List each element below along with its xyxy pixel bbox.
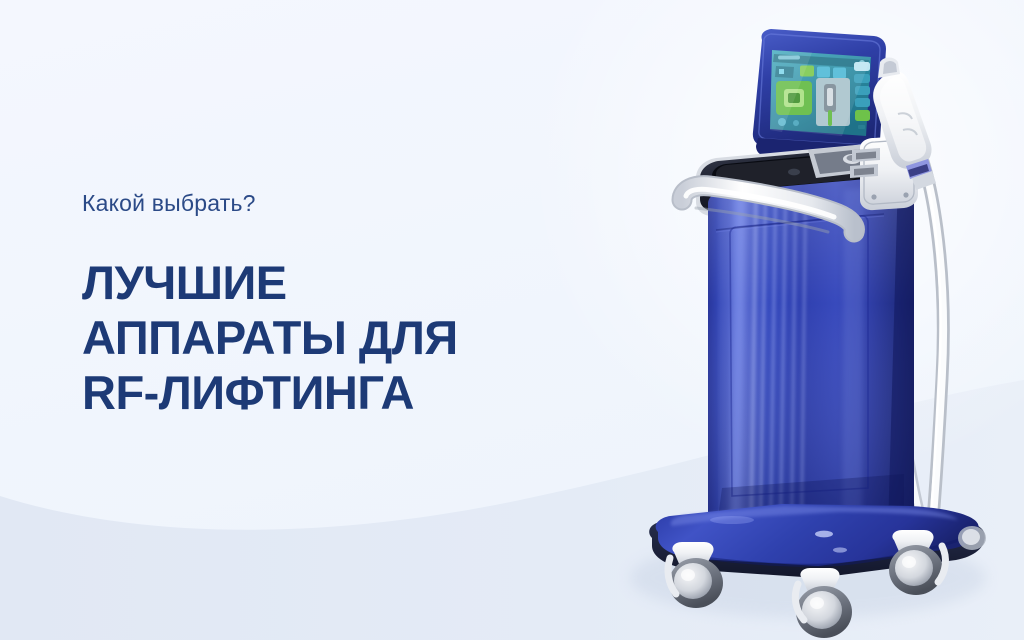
screen-button <box>855 98 870 107</box>
headline-text-block: Какой выбрать? ЛУЧШИЕ АППАРАТЫ ДЛЯ RF-ЛИ… <box>82 190 642 421</box>
main-body <box>708 176 914 540</box>
page-title: ЛУЧШИЕ АППАРАТЫ ДЛЯ RF-ЛИФТИНГА <box>82 256 642 421</box>
headline-line-1: ЛУЧШИЕ <box>82 256 642 311</box>
screen-button-confirm <box>855 110 870 121</box>
deck-button <box>788 169 800 176</box>
castor-wheel <box>958 526 986 550</box>
eyebrow-text: Какой выбрать? <box>82 190 642 218</box>
rf-lifting-promo-banner: Какой выбрать? ЛУЧШИЕ АППАРАТЫ ДЛЯ RF-ЛИ… <box>0 0 1024 640</box>
headline-line-2: АППАРАТЫ ДЛЯ <box>82 311 642 366</box>
rf-lifting-machine <box>612 18 1024 640</box>
headline-line-3: RF-ЛИФТИНГА <box>82 366 642 421</box>
